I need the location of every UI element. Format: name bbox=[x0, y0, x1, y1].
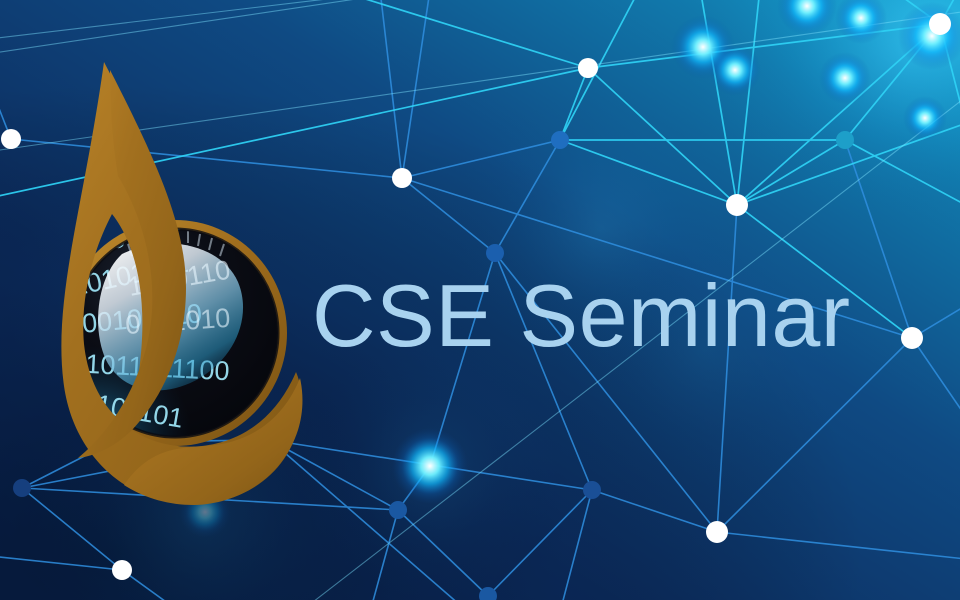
cse-seminar-banner: CSE Seminar bbox=[0, 0, 960, 600]
page-title: CSE Seminar bbox=[312, 268, 851, 363]
title-layer: CSE Seminar bbox=[0, 0, 960, 600]
